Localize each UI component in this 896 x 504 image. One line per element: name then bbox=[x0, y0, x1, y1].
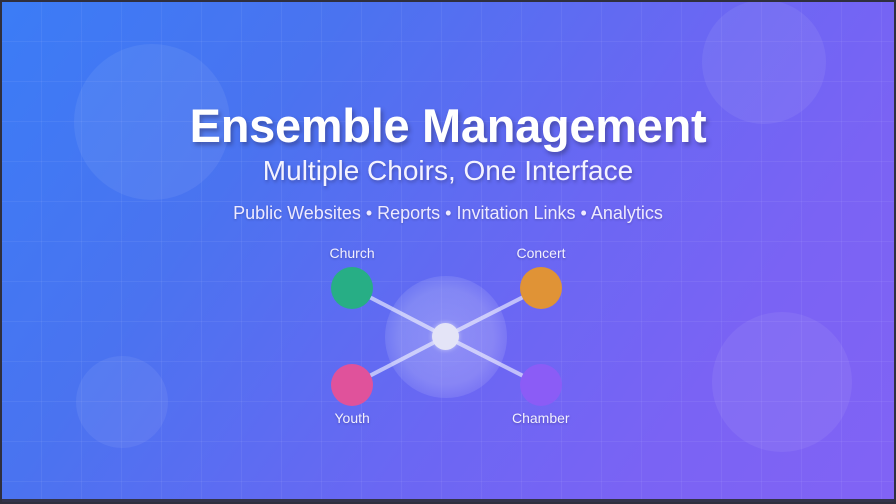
hub-node[interactable] bbox=[432, 323, 459, 350]
node-church[interactable] bbox=[331, 267, 373, 309]
node-concert[interactable] bbox=[520, 267, 562, 309]
node-label-concert: Concert bbox=[517, 245, 566, 261]
node-label-church: Church bbox=[330, 245, 375, 261]
node-label-youth: Youth bbox=[335, 410, 370, 426]
node-youth[interactable] bbox=[331, 364, 373, 406]
bottom-edge bbox=[2, 499, 894, 502]
ensemble-network-diagram: ChurchConcertYouthChamber bbox=[2, 2, 896, 504]
slide-content: Ensemble Management Multiple Choirs, One… bbox=[2, 2, 894, 502]
node-label-chamber: Chamber bbox=[512, 410, 570, 426]
node-chamber[interactable] bbox=[520, 364, 562, 406]
connector-lines bbox=[2, 2, 896, 504]
slide-canvas: Ensemble Management Multiple Choirs, One… bbox=[0, 0, 896, 504]
